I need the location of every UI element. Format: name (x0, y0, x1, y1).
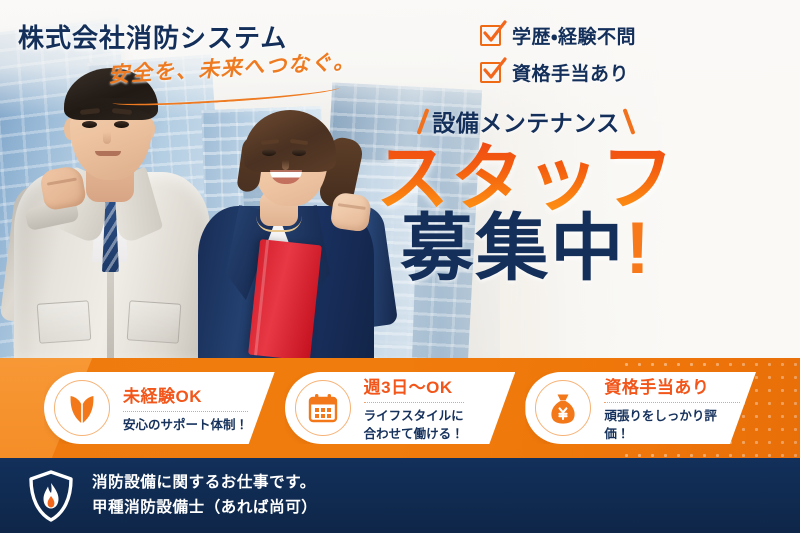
calendar-icon (295, 380, 351, 436)
female-nose (282, 160, 289, 170)
feature-card-divider (123, 411, 248, 412)
feature-card-text: 未経験OK 安心のサポート体制！ (110, 382, 264, 434)
feature-card-subtitle: ライフスタイルに 合わせて働ける！ (364, 408, 464, 443)
headline-recruiting-text: 募集中 (400, 208, 625, 289)
checkbox-checked-icon (480, 25, 501, 46)
footer-line-1: 消防設備に関するお仕事です。 (92, 471, 317, 495)
checkbox-checked-icon (480, 62, 501, 83)
headline-block: 設備メンテナンス スタッフ 募集中! (376, 104, 676, 287)
job-category-line: 設備メンテナンス (376, 104, 676, 138)
feature-card-no-experience[interactable]: 未経験OK 安心のサポート体制！ (44, 372, 275, 444)
feature-card-three-days[interactable]: 週3日〜OK ライフスタイルに 合わせて働ける！ (285, 372, 516, 444)
feature-card-title: 資格手当あり (604, 373, 740, 398)
feature-card-subtitle: 安心のサポート体制！ (123, 417, 248, 434)
beginner-leaf-mark-icon (54, 380, 110, 436)
male-jacket-pocket-right (127, 300, 182, 344)
check-item: 学歴・経験不問 (480, 22, 636, 49)
footer-line-2: 甲種消防設備士（あれば尚可） (92, 496, 317, 520)
male-jacket-pocket-left (37, 300, 92, 344)
feature-card-text: 資格手当あり 頑張りをしっかり評価！ (591, 373, 756, 443)
feature-card-title: 未経験OK (123, 382, 248, 407)
company-name: 株式会社消防システム (18, 18, 287, 55)
feature-card-text: 週3日〜OK ライフスタイルに 合わせて働ける！ (351, 373, 480, 443)
feature-band: 未経験OK 安心のサポート体制！ (0, 358, 800, 458)
benefit-check-list: 学歴・経験不問 資格手当あり (480, 22, 636, 96)
slash-right-decoration (622, 108, 635, 135)
check-item: 資格手当あり (480, 59, 636, 86)
shield-flame-icon (28, 470, 74, 522)
male-jacket-zipper (107, 258, 114, 358)
feature-card-subtitle: 頑張りをしっかり評価！ (604, 408, 740, 443)
slash-left-decoration (417, 108, 430, 135)
headline-recruiting: 募集中! (376, 212, 676, 286)
headline-staff: スタッフ (376, 142, 676, 216)
male-mouth (95, 151, 121, 156)
female-eye-right (292, 149, 306, 156)
money-bag-yen-icon (535, 380, 591, 436)
feature-card-divider (364, 402, 464, 403)
feature-card-divider (604, 402, 740, 403)
red-document-folder (248, 239, 322, 358)
male-nose (103, 132, 111, 144)
female-raised-fist (330, 192, 373, 233)
headline-exclamation: ! (625, 208, 651, 289)
check-item-label: 学歴・経験不問 (512, 22, 636, 49)
check-item-label: 資格手当あり (512, 59, 629, 86)
feature-card-list: 未経験OK 安心のサポート体制！ (0, 358, 800, 458)
female-eye-left (262, 149, 276, 156)
footer-bar: 消防設備に関するお仕事です。 甲種消防設備士（あれば尚可） (0, 458, 800, 533)
male-eye-left (82, 121, 97, 128)
job-category-label: 設備メンテナンス (432, 104, 620, 138)
recruitment-banner: 株式会社消防システム 安全を、未来へつなぐ。 学歴・経験不問 資格手当あり (0, 0, 800, 533)
feature-card-title: 週3日〜OK (364, 373, 464, 398)
tagline-block: 安全を、未来へつなぐ。 (108, 52, 358, 100)
female-staff-photo (182, 108, 388, 358)
male-eye-right (114, 121, 129, 128)
footer-text-block: 消防設備に関するお仕事です。 甲種消防設備士（あれば尚可） (92, 471, 317, 519)
feature-card-qualification-allowance[interactable]: 資格手当あり 頑張りをしっかり評価！ (525, 372, 756, 444)
